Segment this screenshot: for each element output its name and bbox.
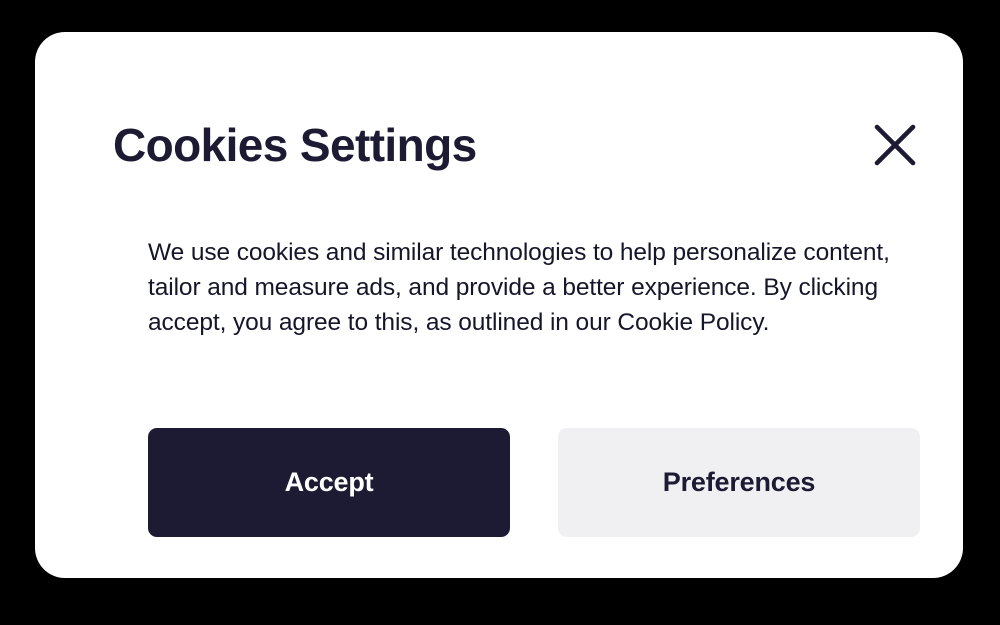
screen-root: Cookies Settings We use cookies and simi…: [0, 0, 1000, 625]
preferences-button[interactable]: Preferences: [558, 428, 920, 537]
dialog-description: We use cookies and similar technologies …: [148, 235, 930, 340]
page-title: Cookies Settings: [113, 102, 477, 188]
cookie-settings-dialog: Cookies Settings We use cookies and simi…: [35, 32, 963, 578]
dialog-header: Cookies Settings: [113, 102, 918, 188]
accept-button[interactable]: Accept: [148, 428, 510, 537]
close-button[interactable]: [872, 122, 918, 168]
dialog-actions: Accept Preferences: [148, 428, 920, 537]
close-x-icon: [874, 124, 916, 166]
